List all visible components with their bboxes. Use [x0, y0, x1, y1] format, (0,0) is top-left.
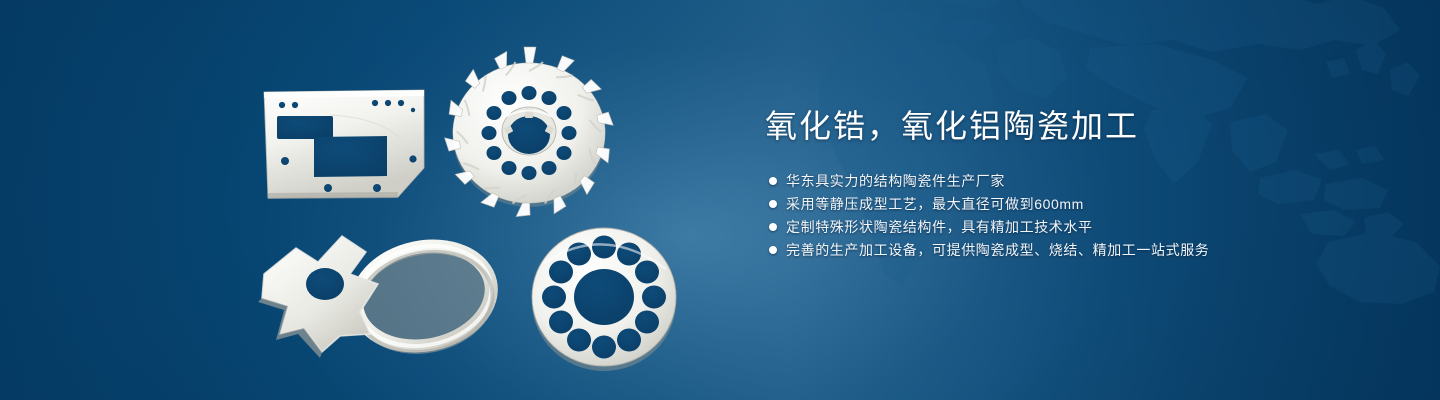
list-item: 完善的生产加工设备，可提供陶瓷成型、烧结、精加工一站式服务	[765, 239, 1325, 261]
list-item: 采用等静压成型工艺，最大直径可做到600mm	[765, 193, 1325, 215]
list-item: 华东具实力的结构陶瓷件生产厂家	[765, 170, 1325, 192]
feature-text: 华东具实力的结构陶瓷件生产厂家	[786, 170, 1005, 192]
bullet-dot-icon	[769, 200, 777, 208]
bullet-dot-icon	[769, 223, 777, 231]
bullet-dot-icon	[769, 177, 777, 185]
feature-text: 定制特殊形状陶瓷结构件，具有精加工技术水平	[786, 216, 1093, 238]
banner-copy: 氧化锆，氧化铝陶瓷加工 华东具实力的结构陶瓷件生产厂家 采用等静压成型工艺，最大…	[765, 104, 1325, 262]
feature-text: 完善的生产加工设备，可提供陶瓷成型、烧结、精加工一站式服务	[786, 239, 1209, 261]
feature-text: 采用等静压成型工艺，最大直径可做到600mm	[786, 193, 1084, 215]
list-item: 定制特殊形状陶瓷结构件，具有精加工技术水平	[765, 216, 1325, 238]
bullet-dot-icon	[769, 246, 777, 254]
banner-headline: 氧化锆，氧化铝陶瓷加工	[765, 104, 1325, 148]
hero-banner: 氧化锆，氧化铝陶瓷加工 华东具实力的结构陶瓷件生产厂家 采用等静压成型工艺，最大…	[0, 0, 1440, 400]
feature-list: 华东具实力的结构陶瓷件生产厂家 采用等静压成型工艺，最大直径可做到600mm 定…	[765, 170, 1325, 261]
